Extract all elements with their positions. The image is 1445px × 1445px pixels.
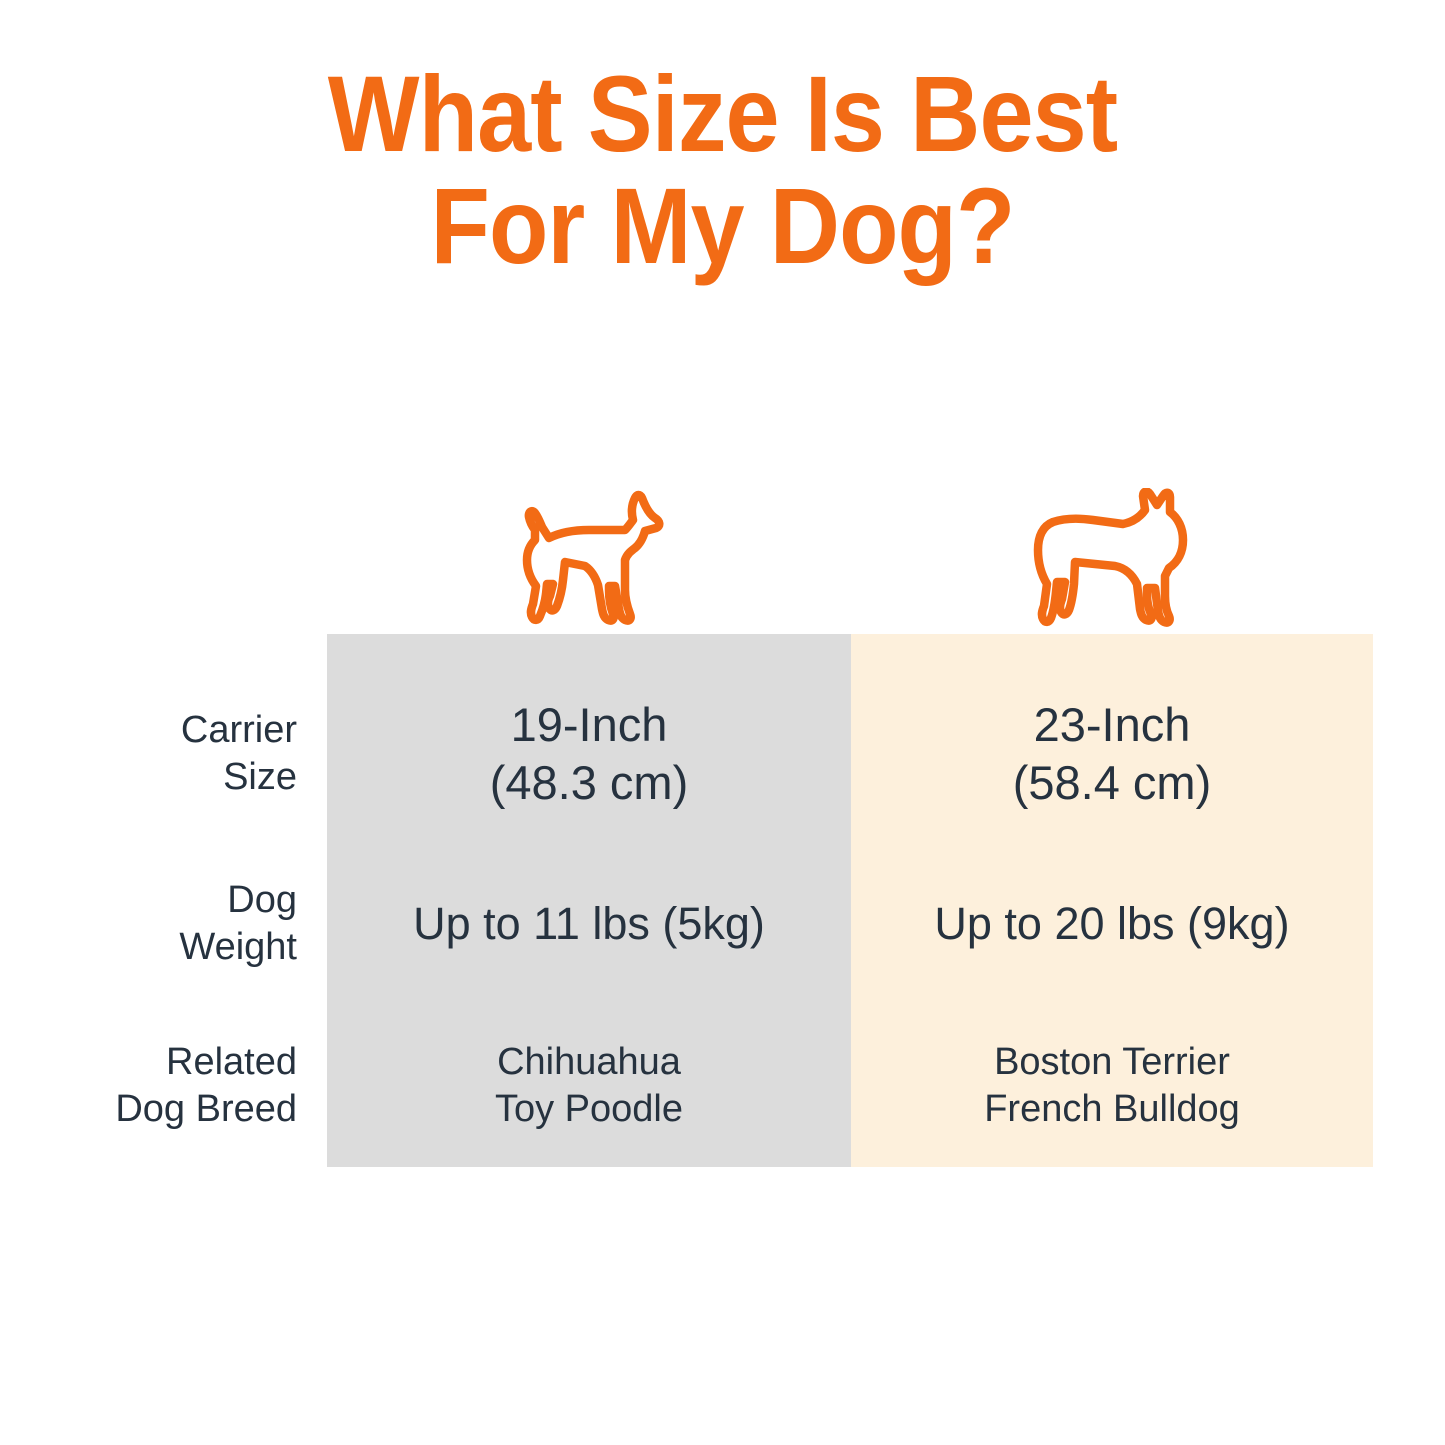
dog-icon-row xyxy=(327,468,1373,628)
page-title: What Size Is Best For My Dog? xyxy=(0,58,1445,282)
page-title-line-2: For My Dog? xyxy=(72,170,1373,282)
cell-line: (48.3 cm) xyxy=(327,754,851,812)
icon-cell-large xyxy=(851,468,1373,628)
icon-cell-small xyxy=(327,468,851,628)
cell-line: 19-Inch xyxy=(327,696,851,754)
cell-carrier-size-large: 23-Inch (58.4 cm) xyxy=(851,696,1373,812)
row-label-line: Related xyxy=(103,1039,297,1086)
cell-line: 23-Inch xyxy=(851,696,1373,754)
cell-dog-weight-large: Up to 20 lbs (9kg) xyxy=(851,896,1373,952)
comparison-table: Carrier Size 19-Inch (48.3 cm) 23-Inch (… xyxy=(103,634,1373,1167)
row-label-carrier-size: Carrier Size xyxy=(103,707,327,801)
cell-line: Chihuahua xyxy=(327,1039,851,1086)
row-label-dog-weight: Dog Weight xyxy=(103,877,327,971)
cell-line: (58.4 cm) xyxy=(851,754,1373,812)
row-label-related-dog-breed: Related Dog Breed xyxy=(103,1039,327,1133)
table-row: Carrier Size 19-Inch (48.3 cm) 23-Inch (… xyxy=(103,664,1373,844)
chihuahua-dog-icon xyxy=(513,490,665,628)
table-rows: Carrier Size 19-Inch (48.3 cm) 23-Inch (… xyxy=(103,634,1373,1167)
cell-dog-weight-small: Up to 11 lbs (5kg) xyxy=(327,896,851,952)
table-row: Dog Weight Up to 11 lbs (5kg) Up to 20 l… xyxy=(103,844,1373,1004)
cell-line: French Bulldog xyxy=(851,1086,1373,1133)
row-label-line: Dog Breed xyxy=(103,1086,297,1133)
bulldog-dog-icon xyxy=(1027,488,1197,628)
cell-breed-small: Chihuahua Toy Poodle xyxy=(327,1039,851,1133)
cell-carrier-size-small: 19-Inch (48.3 cm) xyxy=(327,696,851,812)
cell-breed-large: Boston Terrier French Bulldog xyxy=(851,1039,1373,1133)
cell-line: Boston Terrier xyxy=(851,1039,1373,1086)
page-title-line-1: What Size Is Best xyxy=(72,58,1373,170)
cell-line: Toy Poodle xyxy=(327,1086,851,1133)
table-row: Related Dog Breed Chihuahua Toy Poodle B… xyxy=(103,1004,1373,1167)
